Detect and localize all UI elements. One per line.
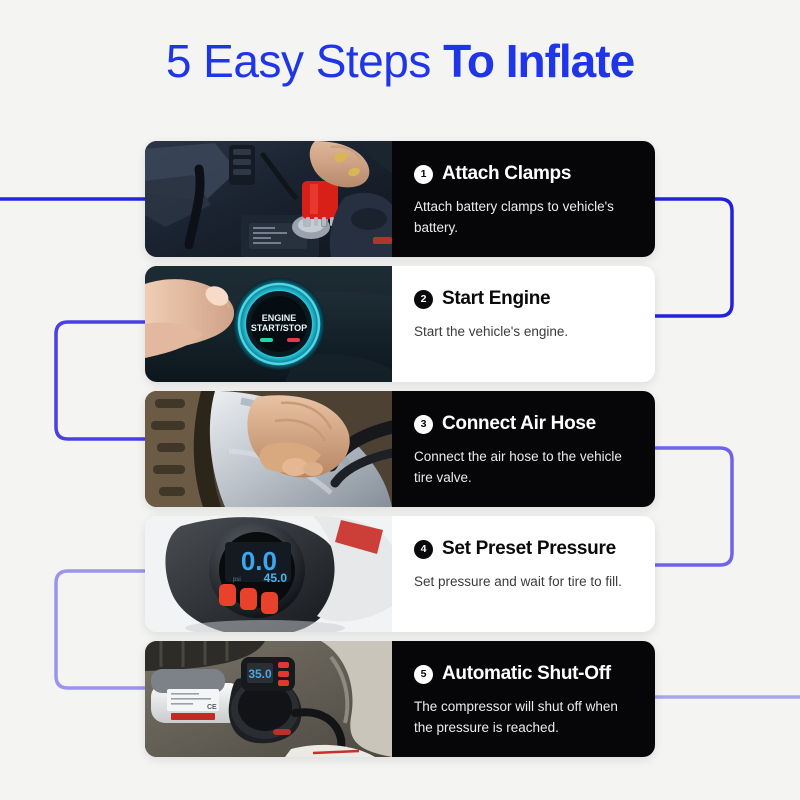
step-title-2: Start Engine: [442, 288, 550, 310]
step-heading-5: 5 Automatic Shut-Off: [414, 663, 637, 685]
step-title-3: Connect Air Hose: [442, 413, 596, 435]
step-body-5: 5 Automatic Shut-Off The compressor will…: [392, 641, 655, 757]
step-card-4[interactable]: 0.0 45.0 psi 4 Set Preset Pressure Set p…: [145, 516, 655, 632]
engine-start-button-photo: ENGINE START/STOP: [145, 266, 392, 382]
connector-left-step-4-5: [56, 571, 145, 688]
step-number-badge-1: 1: [414, 165, 433, 184]
step-heading-1: 1 Attach Clamps: [414, 163, 637, 185]
step-body-2: 2 Start Engine Start the vehicle's engin…: [392, 266, 655, 382]
step-card-2[interactable]: ENGINE START/STOP 2 Start Engine Start t…: [145, 266, 655, 382]
gauge-button-1: [219, 584, 236, 606]
page-title-regular: 5 Easy Steps: [166, 35, 431, 87]
air-hose-tire-valve-photo: [145, 391, 392, 507]
step-description-5: The compressor will shut off when the pr…: [414, 696, 629, 738]
connector-right-step-1-2: [655, 199, 732, 316]
compressor-reading: 35.0: [248, 667, 272, 681]
engine-button-label-line2: START/STOP: [251, 323, 307, 333]
step-heading-3: 3 Connect Air Hose: [414, 413, 637, 435]
step-title-4: Set Preset Pressure: [442, 538, 616, 560]
step-body-4: 4 Set Preset Pressure Set pressure and w…: [392, 516, 655, 632]
page-title: 5 Easy Steps To Inflate: [0, 33, 800, 89]
connector-right-step-3-4: [655, 448, 732, 565]
step-description-2: Start the vehicle's engine.: [414, 321, 629, 342]
step-number-badge-5: 5: [414, 665, 433, 684]
step-card-3[interactable]: 3 Connect Air Hose Connect the air hose …: [145, 391, 655, 507]
steps-list: 1 Attach Clamps Attach battery clamps to…: [145, 141, 655, 766]
gauge-unit: psi: [233, 577, 241, 583]
connector-left-step-2-3: [56, 322, 145, 439]
step-description-3: Connect the air hose to the vehicle tire…: [414, 446, 629, 488]
step-description-1: Attach battery clamps to vehicle's batte…: [414, 196, 629, 238]
gauge-preset: 45.0: [264, 571, 288, 585]
step-card-5[interactable]: CE 35.0: [145, 641, 655, 757]
svg-text:CE: CE: [207, 704, 217, 711]
engine-button-label-line1: ENGINE: [262, 313, 297, 323]
step-heading-2: 2 Start Engine: [414, 288, 637, 310]
step-heading-4: 4 Set Preset Pressure: [414, 538, 637, 560]
step-body-3: 3 Connect Air Hose Connect the air hose …: [392, 391, 655, 507]
step-number-badge-4: 4: [414, 540, 433, 559]
step-number-badge-2: 2: [414, 290, 433, 309]
step-number-badge-3: 3: [414, 415, 433, 434]
step-title-1: Attach Clamps: [442, 163, 571, 185]
pressure-gauge-photo: 0.0 45.0 psi: [145, 516, 392, 632]
step-description-4: Set pressure and wait for tire to fill.: [414, 571, 629, 592]
step-card-1[interactable]: 1 Attach Clamps Attach battery clamps to…: [145, 141, 655, 257]
gauge-button-3: [261, 592, 278, 614]
air-compressor-photo: CE 35.0: [145, 641, 392, 757]
battery-clamp-photo: [145, 141, 392, 257]
page-title-bold: To Inflate: [443, 35, 634, 87]
gauge-button-2: [240, 588, 257, 610]
step-title-5: Automatic Shut-Off: [442, 663, 611, 685]
step-body-1: 1 Attach Clamps Attach battery clamps to…: [392, 141, 655, 257]
